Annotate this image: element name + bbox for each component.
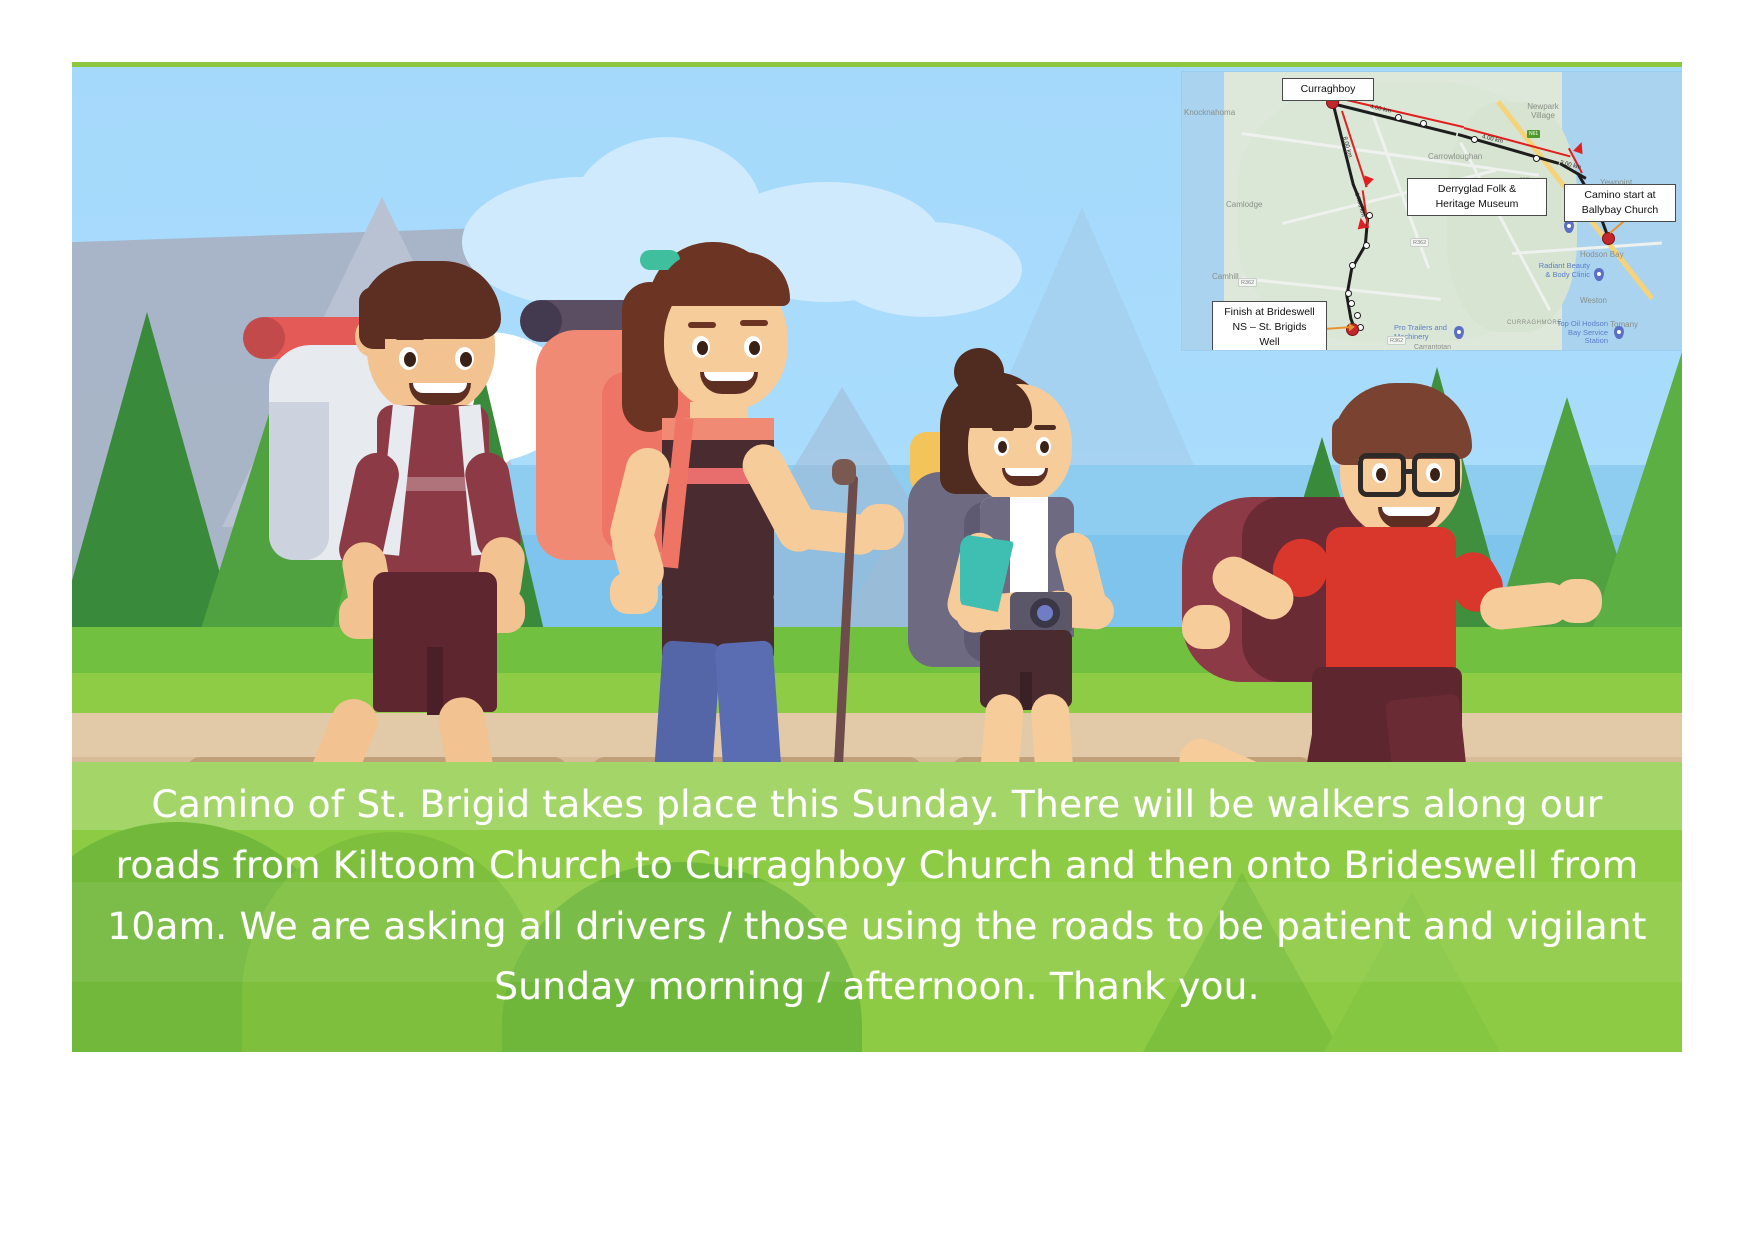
pupil [404,352,416,367]
pupil [749,341,760,355]
teeth [413,383,467,393]
poi-label-top-oil: Top Oil Hodson Bay Service Station [1550,320,1608,346]
backpack-shadow [269,402,329,560]
teeth [704,372,754,381]
hand [1554,579,1602,623]
eyebrow [740,320,768,326]
teeth [1382,507,1436,516]
route-waypoint [1348,300,1355,307]
route-waypoint [1354,312,1361,319]
glasses-bridge [1404,469,1416,474]
place-label-camhill: Camhill [1212,272,1239,281]
poster-canvas: 4.00 km 4.00 km 2.00 km 8.00 km 14.00 km… [72,62,1682,1052]
hair-side [359,287,385,349]
pupil [697,341,708,355]
route-waypoint [1395,114,1402,121]
route-waypoint [1349,262,1356,269]
eyebrow [688,322,716,328]
callout-curraghboy[interactable]: Curraghboy [1282,78,1374,101]
torso [1326,527,1456,687]
bedroll-end [243,317,285,359]
place-label-weston: Weston [1580,296,1607,305]
route-waypoint [1363,242,1370,249]
shorts-split [1020,672,1032,710]
callout-line: Camino start at [1571,188,1669,203]
road-shield-n61: N61 [1527,130,1540,138]
route-waypoint [1533,155,1540,162]
hand [1182,605,1230,649]
camera-lens-glass [1037,605,1053,621]
place-label-carrantotan: Carrantotan [1414,344,1451,350]
announcement-text: Camino of St. Brigid takes place this Su… [72,762,1682,1017]
place-label-knocknahoma: Knocknahoma [1184,108,1235,117]
pole-grip [832,459,856,485]
teeth [1005,468,1045,476]
hair-front [658,252,790,306]
shorts-split [427,647,443,715]
hand [610,572,658,614]
callout-line: Curraghboy [1289,82,1367,97]
eyebrow [1034,425,1056,430]
place-label-camlodge: Camlodge [1226,200,1262,209]
pupil [998,441,1007,453]
callout-line: Finish at Brideswell [1219,305,1320,320]
road-badge: R362 [1387,336,1406,345]
place-label-hodson-bay: Hodson Bay [1580,250,1624,259]
callout-ballybay[interactable]: Camino start at Ballybay Church [1564,184,1676,222]
route-waypoint [1345,290,1352,297]
place-label-carrowloughan: Carrowloughan [1428,152,1482,161]
road-badge: R362 [1410,238,1429,247]
callout-brideswell[interactable]: Finish at Brideswell NS – St. Brigids We… [1212,301,1327,350]
route-waypoint [1366,212,1373,219]
road-badge: R362 [1238,278,1257,287]
poi-label-radiant-beauty: Radiant Beauty & Body Clinic [1532,262,1590,279]
route-waypoint [1420,120,1427,127]
eyebrow [395,334,425,340]
place-label-newpark-village: Newpark Village [1520,102,1566,120]
direction-arrowhead [1356,217,1368,230]
callout-line: Heritage Museum [1414,197,1540,212]
callout-line: NS – St. Brigids [1219,320,1320,335]
pupil [1040,441,1049,453]
callout-line: Derryglad Folk & [1414,182,1540,197]
eyebrow [992,426,1014,431]
endpoint-ballybay [1602,232,1615,245]
route-waypoint [1471,136,1478,143]
camera-flash [1012,582,1028,592]
pupil [1376,468,1386,481]
announcement-band: Camino of St. Brigid takes place this Su… [72,762,1682,1052]
pupil [1430,468,1440,481]
callout-line: Ballybay Church [1571,203,1669,218]
callout-line: Well [1219,335,1320,350]
pupil [460,352,472,367]
route-map-inset[interactable]: 4.00 km 4.00 km 2.00 km 8.00 km 14.00 km… [1182,72,1682,350]
hiker-2 [472,222,852,847]
callout-derryglad[interactable]: Derryglad Folk & Heritage Museum [1407,178,1547,216]
hair-side [1332,417,1358,465]
